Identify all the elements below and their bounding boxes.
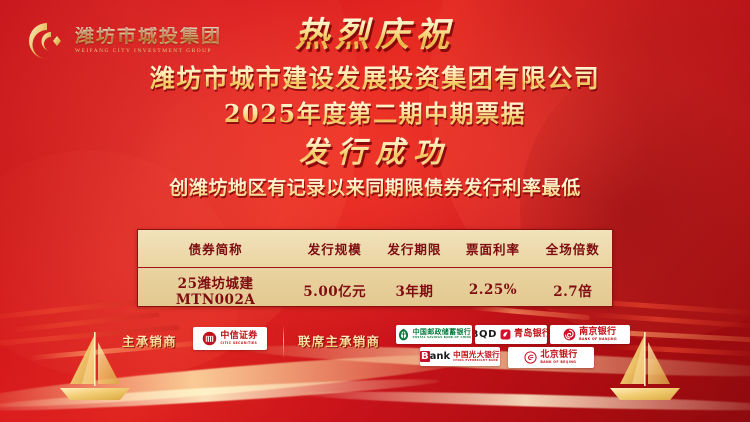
bqd-name-cn: 青岛银行	[514, 330, 547, 339]
nanjing-name-cn: 南京银行	[579, 328, 616, 337]
headline-company: 潍坊市城市建设发展投资集团有限公司	[0, 64, 750, 94]
bond-summary-table: 债券简称 发行规模 发行期限 票面利率 全场倍数 25潍坊城建MTN002A 5…	[137, 229, 613, 307]
logo-china-everbright-bank: Bank 中国光大银行 CHINA EVERBRIGHT BANK	[420, 347, 500, 366]
cell-multiple: 2.7倍	[533, 268, 612, 312]
logo-bank-of-nanjing: 南京银行 BANK OF NANJING	[550, 325, 630, 344]
headline-subtitle: 创潍坊地区有记录以来同期限债券发行利率最低	[0, 177, 750, 200]
ceb-mark-text: Bank	[420, 351, 450, 362]
table-header-multiple: 全场倍数	[533, 230, 612, 268]
celebration-poster: 潍坊市城投集团 WEIFANG CITY INVESTMENT GROUP 热烈…	[0, 0, 750, 422]
cell-rate: 2.25%	[453, 268, 534, 312]
cell-term: 3年期	[376, 268, 452, 312]
citic-name-en: CITIC SECURITIES	[220, 342, 257, 345]
joint-underwriter-label: 联席主承销商	[298, 331, 380, 350]
bank-of-nanjing-logo-icon	[563, 328, 576, 341]
logo-bank-of-qingdao: BQD 青岛银行	[475, 325, 547, 344]
headline-celebrate: 热烈庆祝	[0, 16, 750, 55]
bqd-mark-text: BQD	[475, 329, 497, 340]
psbc-name-cn: 中国邮政储蓄银行	[413, 329, 471, 336]
psbc-name-en: POSTAL SAVINGS BANK OF CHINA	[413, 337, 472, 340]
citic-securities-logo-icon	[202, 331, 217, 346]
postal-savings-bank-logo-icon	[397, 328, 410, 341]
beijing-name-en: BANK OF BEIJING	[540, 361, 576, 364]
table-row: 25潍坊城建MTN002A 5.00亿元 3年期 2.25% 2.7倍	[138, 268, 612, 312]
table-header-row: 债券简称 发行规模 发行期限 票面利率 全场倍数	[138, 230, 612, 268]
citic-name-cn: 中信证券	[220, 332, 257, 341]
ceb-name-cn: 中国光大银行	[453, 351, 500, 359]
underwriters-section: 主承销商 联席主承销商 中信证券 CITIC SECURITIES	[0, 325, 750, 377]
lead-underwriter-label: 主承销商	[122, 331, 177, 350]
table-header-size: 发行规模	[293, 230, 376, 268]
headline-success: 发行成功	[0, 136, 750, 169]
headline-block: 热烈庆祝 潍坊市城市建设发展投资集团有限公司 2025年度第二期中期票据 发行成…	[0, 16, 750, 200]
logo-bank-of-beijing: 北京银行 BANK OF BEIJING	[508, 347, 594, 368]
table-header-term: 发行期限	[376, 230, 452, 268]
cell-size: 5.00亿元	[293, 268, 376, 312]
table-header-rate: 票面利率	[453, 230, 534, 268]
bank-of-qingdao-logo-icon	[500, 329, 511, 340]
logo-postal-savings-bank: 中国邮政储蓄银行 POSTAL SAVINGS BANK OF CHINA	[396, 325, 472, 344]
cell-bond-name: 25潍坊城建MTN002A	[138, 268, 293, 312]
headline-issue: 2025年度第二期中期票据	[0, 100, 750, 129]
beijing-name-cn: 北京银行	[540, 351, 577, 360]
logo-citic-securities: 中信证券 CITIC SECURITIES	[193, 327, 267, 350]
table-header-bond-name: 债券简称	[138, 230, 293, 268]
ceb-name-en: CHINA EVERBRIGHT BANK	[453, 360, 498, 363]
nanjing-name-en: BANK OF NANJING	[579, 338, 617, 341]
section-divider	[283, 325, 284, 359]
bank-of-beijing-logo-icon	[524, 351, 537, 364]
